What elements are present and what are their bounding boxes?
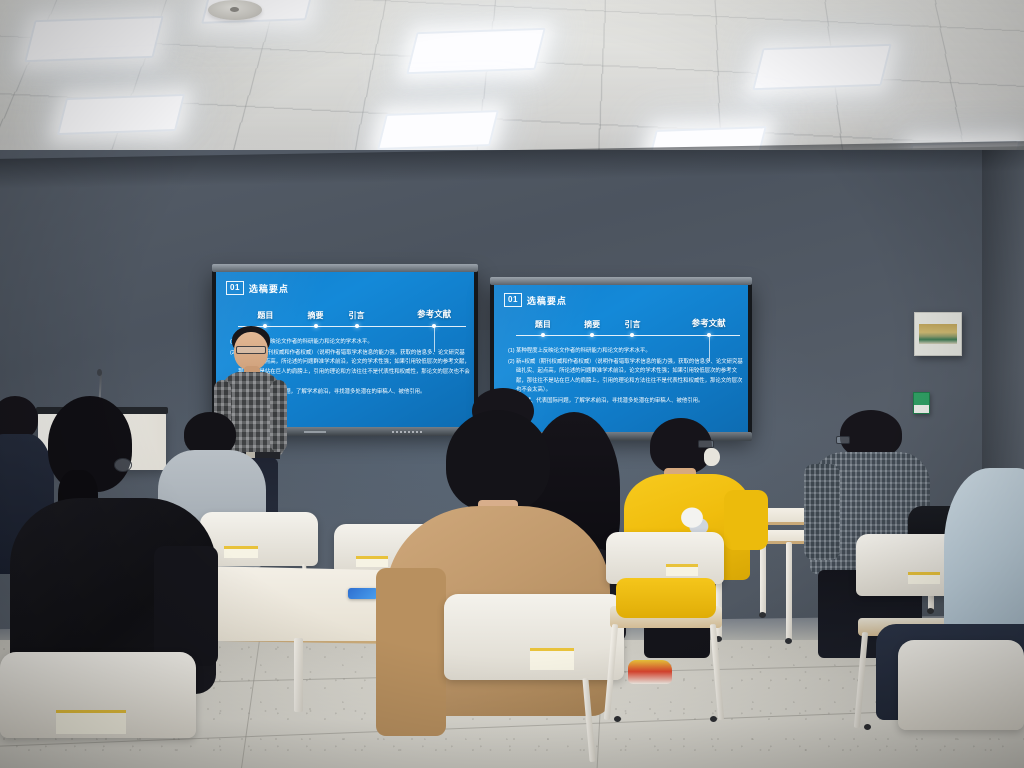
display-brand-mark	[304, 431, 326, 433]
slide-header: 01 选稿要点	[226, 281, 289, 295]
timeline-node	[630, 333, 634, 337]
display-top-bezel	[212, 264, 478, 272]
display-top-bezel	[490, 277, 752, 285]
microphone-capsule-icon	[97, 369, 102, 376]
timeline-label: 引言	[349, 310, 365, 321]
asset-tag-sticker	[356, 556, 388, 567]
presenter-glasses-icon	[236, 346, 266, 354]
student-arm	[804, 464, 840, 560]
student-glasses-icon	[114, 458, 132, 472]
asset-tag-sticker	[666, 564, 698, 576]
chair-backrest	[606, 532, 724, 584]
student-hoodie-body	[944, 468, 1024, 644]
ceiling-led-panel	[377, 110, 499, 150]
asset-tag-sticker	[224, 546, 258, 558]
student-glasses-icon	[836, 436, 850, 444]
classroom-chair[interactable]	[0, 652, 196, 768]
chair-backrest	[898, 640, 1024, 730]
timeline-label: 参考文献	[692, 317, 726, 329]
table-leg	[786, 542, 792, 640]
asset-tag-sticker	[56, 710, 126, 734]
slide-number-badge: 01	[226, 281, 244, 295]
bullet-index: (1)	[508, 347, 515, 357]
face-mask-icon	[704, 448, 720, 466]
table-leg-foot	[785, 638, 792, 644]
slide-bullet: (1) 某种程度上反映论文作者的科研能力和论文的学术水平。	[508, 347, 744, 357]
chair-leg	[582, 678, 595, 762]
table-leg	[294, 638, 303, 712]
framed-artwork	[914, 312, 962, 356]
slide-number-badge: 01	[504, 293, 522, 307]
timeline-label: 摘要	[584, 319, 600, 330]
slide-title: 选稿要点	[527, 294, 567, 307]
slide-header: 01 选稿要点	[504, 293, 567, 307]
chair-leg-foot	[710, 716, 717, 722]
student-arm	[376, 568, 446, 736]
ceiling-led-panel	[752, 44, 892, 90]
ceiling-led-panel	[406, 28, 546, 74]
bullet-text: 某种程度上反映论文作者的科研能力和论文的学术水平。	[516, 347, 744, 357]
timeline-node	[590, 333, 594, 337]
ceiling-led-panel	[57, 94, 185, 135]
chair-leg-foot	[864, 724, 871, 730]
asset-tag-sticker	[908, 572, 940, 584]
chair-leg	[604, 624, 618, 720]
ceiling-led-panel	[24, 16, 164, 62]
classroom-chair[interactable]	[606, 532, 724, 722]
presenter-arm-right	[270, 380, 287, 452]
timeline-label: 参考文献	[417, 308, 451, 320]
smoke-detector-icon	[208, 0, 262, 20]
timeline-node	[314, 324, 318, 328]
timeline-label: 引言	[624, 319, 640, 330]
timeline-node	[541, 333, 545, 337]
chair-seat-cushion	[616, 578, 716, 618]
student-glasses-icon	[698, 440, 714, 448]
classroom-chair[interactable]	[444, 594, 624, 768]
timeline-label: 摘要	[308, 310, 324, 321]
chair-leg	[854, 632, 868, 728]
student-hair	[840, 410, 902, 458]
chair-leg	[710, 624, 724, 720]
chair-leg-foot	[614, 716, 621, 722]
classroom-chair[interactable]	[898, 640, 1024, 768]
timeline-label: 题目	[535, 319, 551, 330]
student-arm	[154, 546, 218, 666]
timeline-node	[355, 324, 359, 328]
slide-timeline-right: 题目 摘要 引言 参考文献	[516, 319, 740, 341]
asset-tag-sticker	[530, 648, 574, 670]
student-arm	[724, 490, 768, 550]
smartphone-on-table[interactable]	[348, 588, 378, 599]
slide-title: 选稿要点	[249, 282, 289, 295]
classroom-scene: 01 选稿要点 题目 摘要 引言 参考文献 (1) 某种程度上反映论文作者的科研…	[0, 0, 1024, 768]
table-leg-foot	[759, 612, 766, 618]
student-hair	[446, 410, 550, 512]
artwork-image	[919, 324, 958, 344]
timeline-label: 题目	[257, 310, 273, 321]
